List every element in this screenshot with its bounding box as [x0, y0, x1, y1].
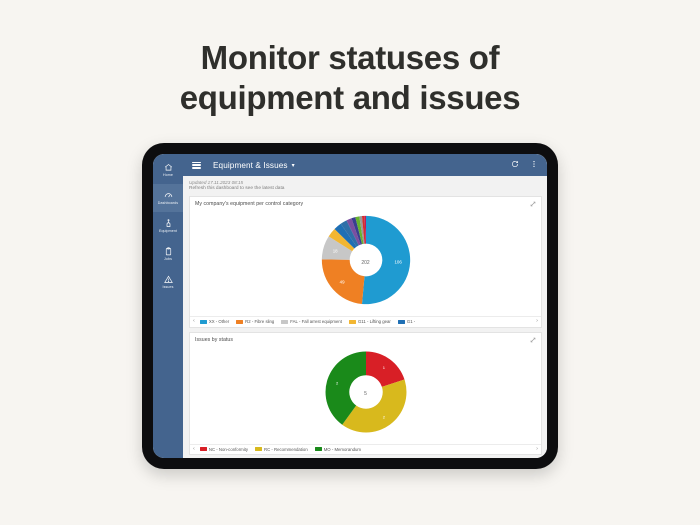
- legend-swatch: [398, 320, 405, 324]
- sidebar-item-label: Home: [163, 173, 173, 177]
- sidebar-item-label: Equipment: [159, 229, 177, 233]
- legend-items: XX - OtherR2 - Fibre slingFAL - Fall arr…: [200, 319, 531, 324]
- sidebar-item-jobs[interactable]: Jobs: [153, 240, 183, 268]
- chevron-left-icon[interactable]: ‹: [193, 447, 195, 453]
- legend-item[interactable]: NC - Non-conformity: [200, 447, 248, 452]
- headline-line-2: equipment and issues: [0, 78, 700, 118]
- legend-label: MO - Memorandum: [324, 447, 361, 452]
- tablet-device-frame: Home Dashboards Equipment: [142, 143, 558, 469]
- card-header: Issues by status: [190, 333, 541, 346]
- hamburger-menu-icon[interactable]: [192, 162, 201, 169]
- app-main: Equipment & Issues ▾ Updated 17.11.2023 …: [183, 154, 547, 458]
- chevron-left-icon[interactable]: ‹: [193, 319, 195, 325]
- svg-text:106: 106: [394, 259, 402, 264]
- donut-wrap: 122 5: [322, 348, 410, 441]
- sidebar-item-label: Issues: [163, 285, 174, 289]
- donut-svg: 122: [322, 348, 410, 436]
- sidebar-item-equipment[interactable]: Equipment: [153, 212, 183, 240]
- legend-item[interactable]: RC - Recommendation: [255, 447, 308, 452]
- card-header: My company's equipment per control categ…: [190, 197, 541, 210]
- donut-wrap: 1064918 202: [318, 212, 414, 313]
- warning-triangle-icon: [164, 275, 173, 284]
- tablet-screen: Home Dashboards Equipment: [153, 154, 547, 458]
- card-title: Issues by status: [195, 337, 233, 343]
- legend-label: FAL - Fall arrest equipment: [290, 319, 342, 324]
- sidebar-item-label: Dashboards: [158, 201, 178, 205]
- svg-text:18: 18: [332, 249, 337, 254]
- donut-chart-issues[interactable]: 122 5: [190, 346, 541, 444]
- sidebar-item-home[interactable]: Home: [153, 156, 183, 184]
- legend-item[interactable]: R2 - Fibre sling: [236, 319, 274, 324]
- app-bar: Equipment & Issues ▾: [183, 154, 547, 176]
- legend-equipment[interactable]: ‹ XX - OtherR2 - Fibre slingFAL - Fall a…: [190, 316, 541, 327]
- sidebar-item-issues[interactable]: Issues: [153, 268, 183, 296]
- legend-swatch: [281, 320, 288, 324]
- legend-label: NC - Non-conformity: [209, 447, 248, 452]
- legend-label: XX - Other: [209, 319, 229, 324]
- card-issues-by-status: Issues by status 122 5: [189, 332, 542, 456]
- chevron-right-icon[interactable]: ›: [536, 319, 538, 325]
- clipboard-icon: [164, 247, 173, 256]
- legend-item[interactable]: G11 - Lifting gear: [349, 319, 391, 324]
- sidebar-item-dashboards[interactable]: Dashboards: [153, 184, 183, 212]
- legend-swatch: [315, 447, 322, 451]
- dashboard-content[interactable]: Updated 17.11.2023 08:15 Refresh this da…: [183, 176, 547, 458]
- legend-swatch: [200, 447, 207, 451]
- legend-label: G1 -: [407, 319, 415, 324]
- legend-issues[interactable]: ‹ NC - Non-conformityRC - Recommendation…: [190, 444, 541, 455]
- refresh-icon[interactable]: [511, 160, 519, 170]
- chevron-right-icon[interactable]: ›: [536, 447, 538, 453]
- donut-svg: 1064918: [318, 212, 414, 308]
- more-vertical-icon[interactable]: [530, 160, 538, 170]
- card-equipment-per-control-category: My company's equipment per control categ…: [189, 196, 542, 328]
- chevron-down-icon[interactable]: ▾: [292, 162, 295, 169]
- legend-item[interactable]: MO - Memorandum: [315, 447, 361, 452]
- legend-swatch: [255, 447, 262, 451]
- legend-swatch: [200, 320, 207, 324]
- legend-label: R2 - Fibre sling: [245, 319, 274, 324]
- home-icon: [164, 163, 173, 172]
- refresh-hint: Refresh this dashboard to see the latest…: [189, 186, 542, 192]
- page-headline: Monitor statuses of equipment and issues: [0, 38, 700, 118]
- expand-diagonal-icon[interactable]: [530, 337, 536, 345]
- legend-swatch: [236, 320, 243, 324]
- donut-chart-equipment[interactable]: 1064918 202: [190, 210, 541, 316]
- legend-items: NC - Non-conformityRC - RecommendationMO…: [200, 447, 531, 452]
- expand-diagonal-icon[interactable]: [530, 201, 536, 209]
- legend-label: G11 - Lifting gear: [358, 319, 391, 324]
- legend-swatch: [349, 320, 356, 324]
- app-bar-title: Equipment & Issues: [213, 161, 288, 170]
- equipment-icon: [164, 219, 173, 228]
- dashboard-gauge-icon: [164, 191, 173, 200]
- svg-text:49: 49: [339, 279, 344, 284]
- legend-item[interactable]: G1 -: [398, 319, 415, 324]
- sidebar-item-label: Jobs: [164, 257, 172, 261]
- card-title: My company's equipment per control categ…: [195, 201, 303, 207]
- app-sidebar: Home Dashboards Equipment: [153, 154, 183, 458]
- legend-item[interactable]: XX - Other: [200, 319, 229, 324]
- headline-line-1: Monitor statuses of: [201, 39, 500, 76]
- legend-label: RC - Recommendation: [264, 447, 308, 452]
- legend-item[interactable]: FAL - Fall arrest equipment: [281, 319, 342, 324]
